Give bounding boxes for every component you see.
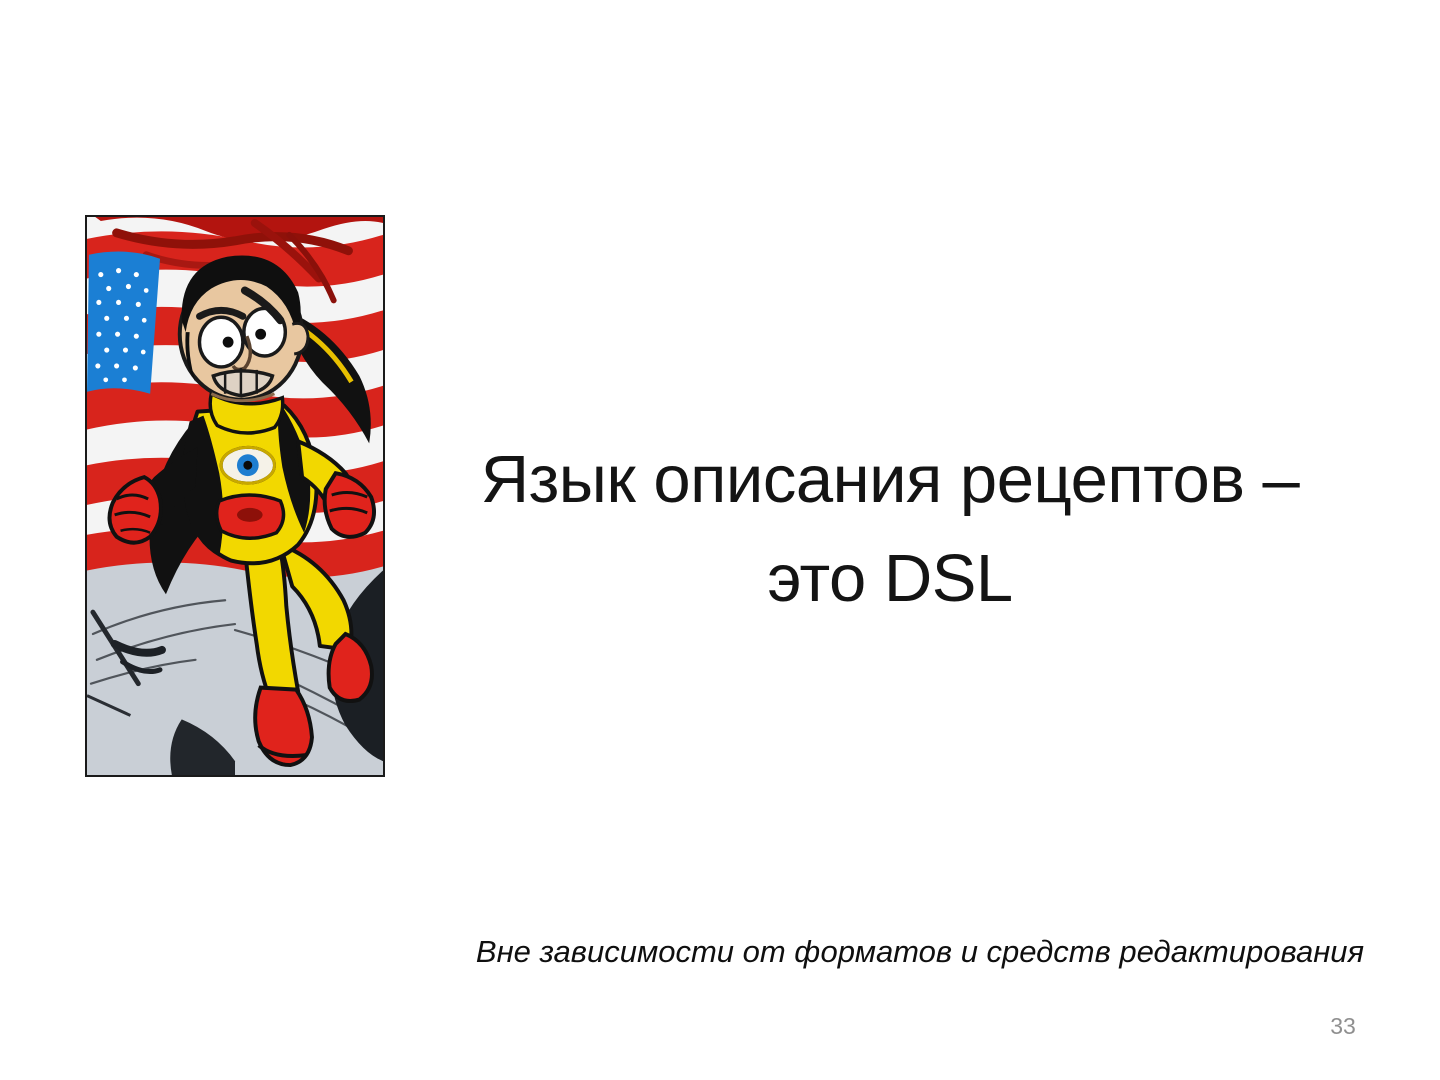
slide-canvas: Язык описания рецептов – это DSL Вне зав… — [0, 0, 1440, 1080]
illustration-image — [85, 215, 385, 777]
title-line-1: Язык описания рецептов – — [420, 430, 1360, 529]
slide-subtitle: Вне зависимости от форматов и средств ре… — [420, 932, 1420, 972]
title-line-2: это DSL — [420, 529, 1360, 628]
page-number: 33 — [1312, 1013, 1374, 1040]
comic-superhero-graphic — [87, 217, 383, 775]
slide-title: Язык описания рецептов – это DSL — [420, 430, 1360, 628]
